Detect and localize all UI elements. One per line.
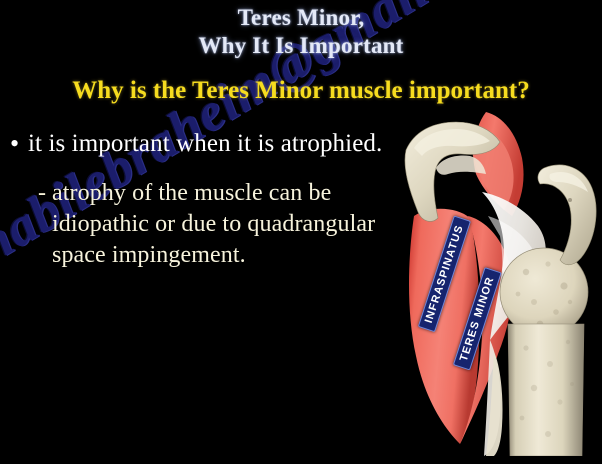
bullet-item: • it is important when it is atrophied. [10, 128, 410, 160]
sub-bullet-text: atrophy of the muscle can be idiopathic … [52, 178, 410, 271]
sub-bullet-item: - atrophy of the muscle can be idiopathi… [38, 178, 410, 271]
title-line-1: Teres Minor, [0, 4, 602, 32]
bullet-text: it is important when it is atrophied. [28, 128, 382, 160]
subtitle-question: Why is the Teres Minor muscle important? [0, 76, 602, 106]
body-text-block: • it is important when it is atrophied. … [10, 128, 410, 271]
sub-bullet-dash-icon: - [38, 178, 52, 209]
title-line-2: Why It Is Important [0, 32, 602, 60]
coracoid-foramen [568, 198, 572, 202]
slide-title: Teres Minor, Why It Is Important [0, 4, 602, 60]
slide-canvas: nabilebraheim@gmail.com [0, 0, 602, 464]
bullet-dot-icon: • [10, 128, 28, 159]
